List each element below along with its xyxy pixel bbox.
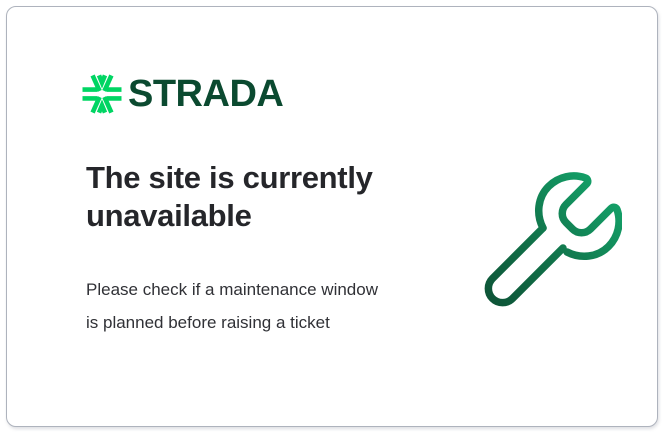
page-root: STRADA The site is currently unavailable… (0, 0, 666, 436)
page-title: The site is currently unavailable (86, 159, 416, 235)
status-card: STRADA The site is currently unavailable… (6, 6, 658, 427)
status-description: Please check if a maintenance window is … (86, 273, 391, 339)
strada-asterisk-mark-icon (80, 72, 124, 116)
wrench-icon (462, 157, 622, 317)
brand-wordmark: STRADA (128, 75, 283, 113)
brand-logo: STRADA (80, 70, 283, 118)
